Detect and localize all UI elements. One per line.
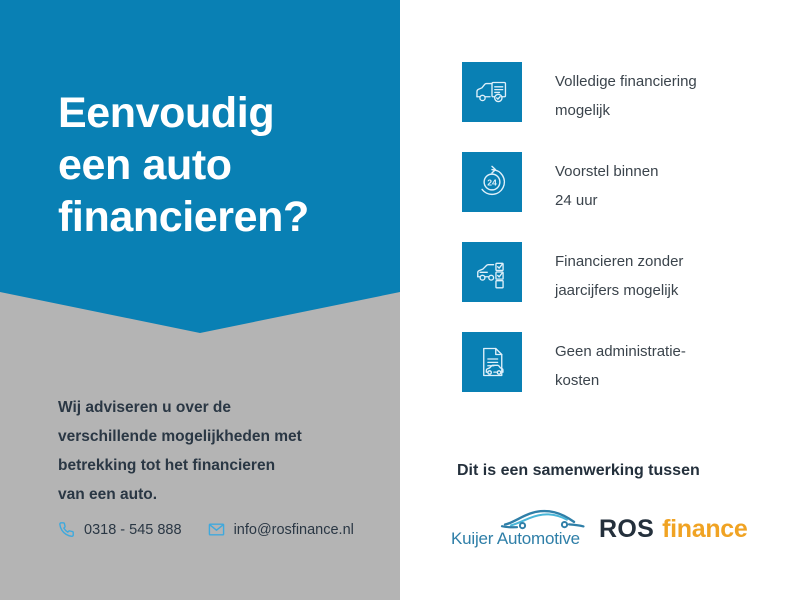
- email-link[interactable]: info@rosfinance.nl: [208, 521, 354, 538]
- headline-line-1: Eenvoudig: [58, 87, 388, 139]
- email-address: info@rosfinance.nl: [234, 522, 354, 538]
- contact-row: 0318 - 545 888 info@rosfinance.nl: [58, 521, 354, 538]
- phone-link[interactable]: 0318 - 545 888: [58, 521, 182, 538]
- car-checklist-icon: [473, 253, 511, 291]
- feature-line-1: Financieren zonder: [555, 247, 795, 276]
- headline-line-2: een auto: [58, 139, 388, 191]
- feature-line-1: Geen administratie-: [555, 337, 795, 366]
- left-column: Eenvoudig een auto financieren? Wij advi…: [0, 0, 400, 600]
- finance-wordmark: finance: [662, 515, 747, 544]
- ros-finance-logo[interactable]: ROS finance: [599, 515, 748, 544]
- intro-line-2: verschillende mogelijkheden met: [58, 422, 378, 451]
- feature-label: Geen administratie- kosten: [555, 337, 795, 395]
- promo-banner: Eenvoudig een auto financieren? Wij advi…: [0, 0, 800, 600]
- feature-line-2: mogelijk: [555, 96, 795, 125]
- intro-line-4: van een auto.: [58, 480, 378, 509]
- feature-line-2: 24 uur: [555, 186, 795, 215]
- feature-label: Volledige financiering mogelijk: [555, 67, 795, 125]
- intro-paragraph: Wij adviseren u over de verschillende mo…: [58, 393, 378, 509]
- feature-label: Financieren zonder jaarcijfers mogelijk: [555, 247, 795, 305]
- clock-24-hours-icon: 24: [474, 164, 510, 200]
- feature-icon-tile: [462, 62, 522, 122]
- ros-wordmark: ROS: [599, 515, 654, 544]
- kuijer-automotive-logo[interactable]: Kuijer Automotive: [451, 505, 591, 553]
- car-document-check-icon: [473, 73, 511, 111]
- kuijer-automotive-wordmark: Kuijer Automotive: [451, 529, 591, 549]
- document-car-icon: [474, 344, 510, 380]
- feature-line-2: jaarcijfers mogelijk: [555, 276, 795, 305]
- feature-icon-tile: [462, 242, 522, 302]
- intro-line-3: betrekking tot het financieren: [58, 451, 378, 480]
- phone-icon: [58, 521, 75, 538]
- svg-text:24: 24: [487, 177, 497, 187]
- page-title: Eenvoudig een auto financieren?: [58, 87, 388, 243]
- feature-icon-tile: [462, 332, 522, 392]
- headline-line-3: financieren?: [58, 191, 388, 243]
- feature-line-2: kosten: [555, 366, 795, 395]
- partner-logos: Kuijer Automotive ROS finance: [451, 505, 748, 553]
- feature-line-1: Voorstel binnen: [555, 157, 795, 186]
- feature-line-1: Volledige financiering: [555, 67, 795, 96]
- feature-label: Voorstel binnen 24 uur: [555, 157, 795, 215]
- phone-number: 0318 - 545 888: [84, 522, 182, 538]
- envelope-icon: [208, 521, 225, 538]
- intro-line-1: Wij adviseren u over de: [58, 393, 378, 422]
- feature-icon-tile: 24: [462, 152, 522, 212]
- partners-heading: Dit is een samenwerking tussen: [457, 462, 700, 480]
